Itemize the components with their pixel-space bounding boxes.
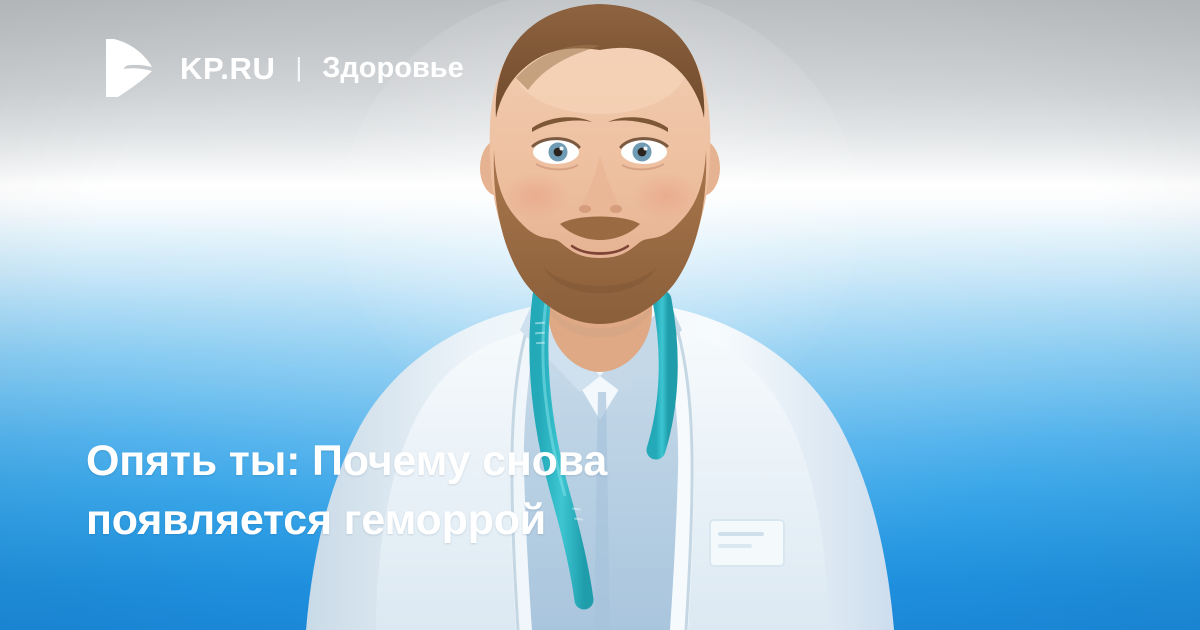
headline-line-2: появляется геморрой — [86, 491, 826, 550]
social-share-card: KP.RU | Здоровье Опять ты: Почему снова … — [0, 0, 1200, 630]
kp-bird-logo-icon[interactable] — [96, 37, 156, 99]
headline: Опять ты: Почему снова появляется геморр… — [86, 432, 826, 551]
brand-name[interactable]: KP.RU — [180, 53, 275, 84]
headline-line-1: Опять ты: Почему снова — [86, 432, 826, 491]
brand-separator: | — [295, 54, 302, 80]
section-name[interactable]: Здоровье — [322, 54, 464, 83]
brand-header: KP.RU | Здоровье — [96, 36, 464, 100]
